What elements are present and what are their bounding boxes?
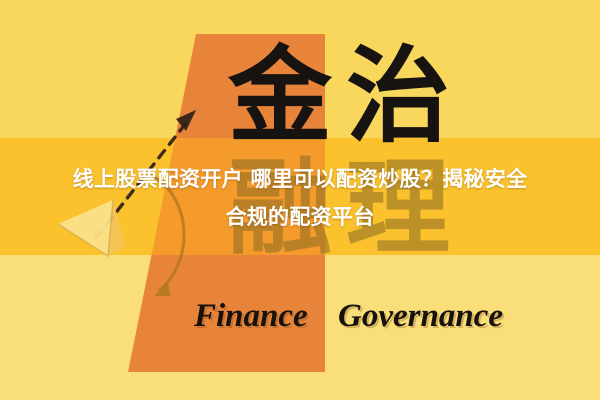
- headline-overlay: 线上股票配资开户 哪里可以配资炒股？揭秘安全 合规的配资平台: [0, 160, 600, 236]
- caption-finance: Finance: [194, 298, 308, 335]
- headline-line-2: 合规的配资平台: [0, 198, 600, 236]
- background-glyph-zhi: 治: [346, 44, 450, 148]
- headline-line-1: 线上股票配资开户 哪里可以配资炒股？揭秘安全: [0, 160, 600, 198]
- background-glyph-jin: 金: [228, 44, 332, 148]
- banner-canvas: 融 理 金 治 Finance Governance 线上股票配资开户 哪里可以…: [0, 0, 600, 400]
- caption-governance: Governance: [338, 298, 503, 335]
